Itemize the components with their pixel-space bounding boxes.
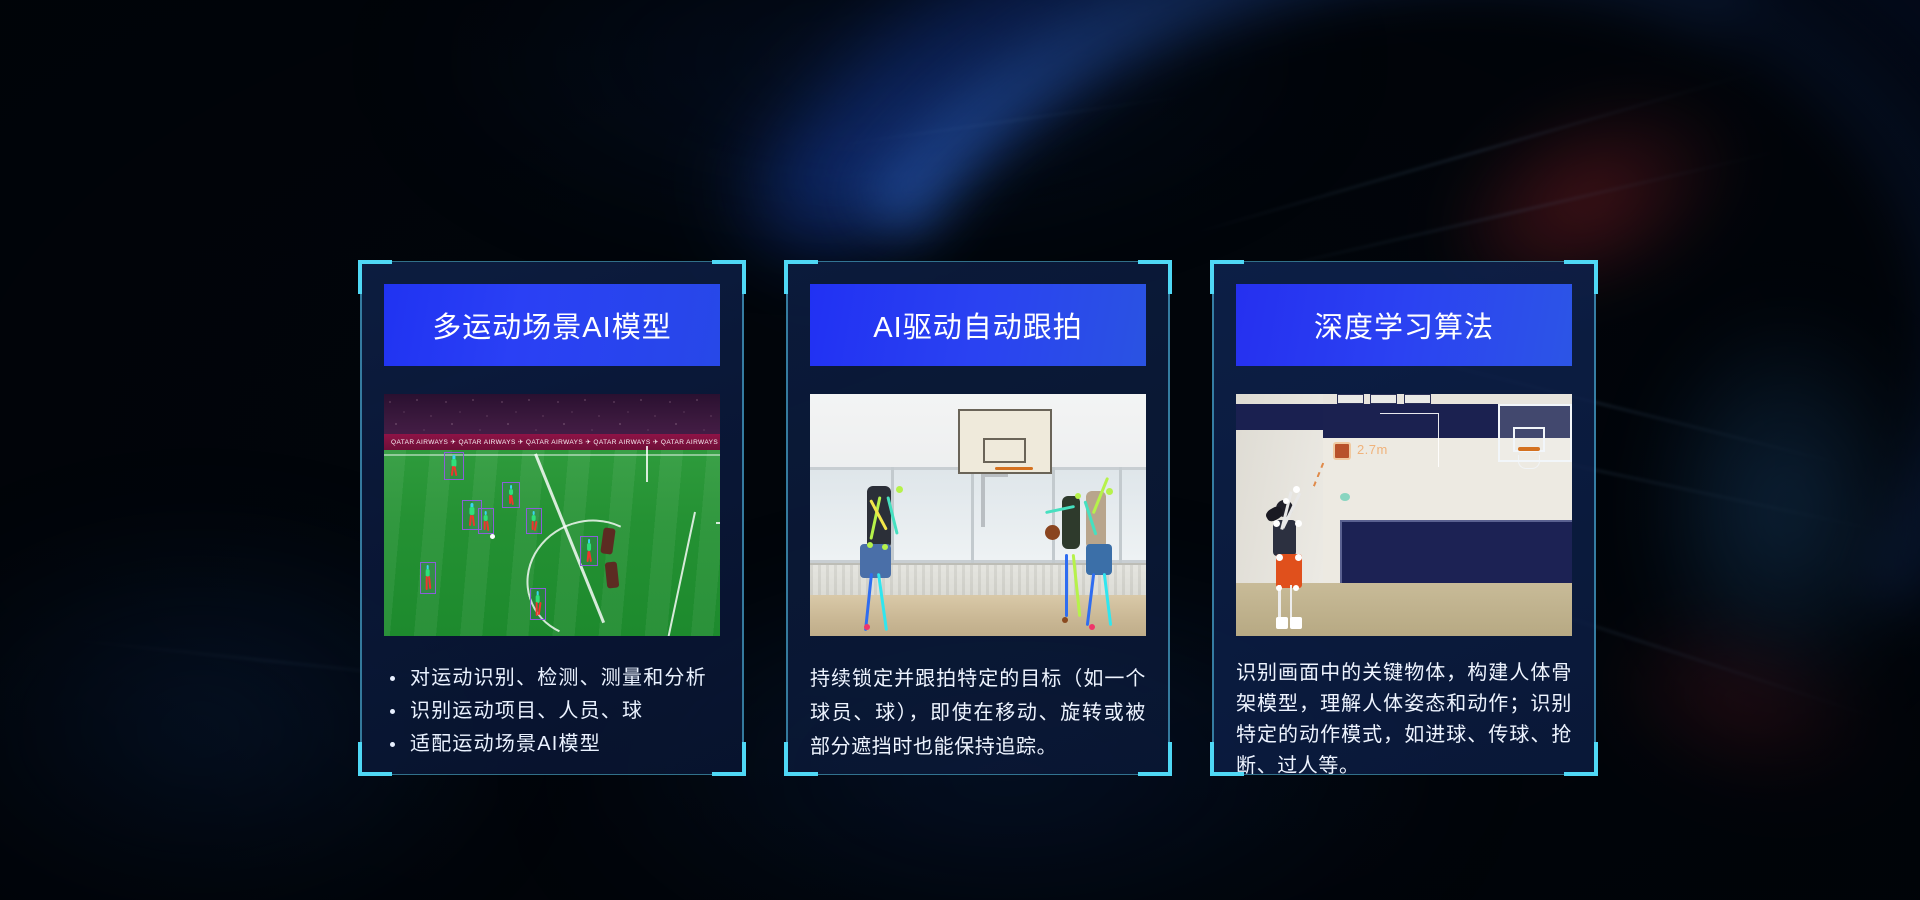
soccer-pitch-detection-image: QATAR AIRWAYS ✈ QATAR AIRWAYS ✈ QATAR AI… [384,394,720,636]
trajectory-guide [1380,413,1437,414]
basketball-backboard [958,409,1052,474]
pitch-line [646,446,648,482]
detection-box [444,452,464,480]
scoreboard-sign [1337,394,1364,404]
card-description: 识别画面中的关键物体，构建人体骨架模型，理解人体姿态和动作；识别特定的动作模式，… [1236,658,1572,782]
feature-card-row: 多运动场景AI模型 QATAR AIRWAYS ✈ QATAR AIRWAYS … [0,0,1920,900]
list-item: 适配运动场景AI模型 [384,728,720,761]
sponsor-banner: QATAR AIRWAYS ✈ QATAR AIRWAYS ✈ QATAR AI… [384,434,720,450]
feature-card-ai-auto-tracking[interactable]: AI驱动自动跟拍 [786,262,1170,774]
player-unboxed [605,561,620,588]
list-item: 对运动识别、检测、测量和分析 [384,662,720,695]
detection-box [478,508,494,534]
feature-card-deep-learning-algorithm[interactable]: 深度学习算法 [1212,262,1596,774]
basketball-rim [1518,447,1540,451]
card-title: AI驱动自动跟拍 [810,284,1146,366]
feature-bullet-list: 对运动识别、检测、测量和分析 识别运动项目、人员、球 适配运动场景AI模型 [384,662,720,761]
detection-box [580,536,598,566]
gym-floor [810,595,1146,636]
shot-trajectory-analysis-image: 2.7m [1236,394,1572,636]
scoreboard-sign [1370,394,1397,404]
detection-box [526,508,542,534]
detection-box [530,588,546,620]
sponsor-banner-text: QATAR AIRWAYS ✈ QATAR AIRWAYS ✈ QATAR AI… [384,438,720,446]
ball-marker [490,534,495,539]
gym-basketball-pose-image [810,394,1146,636]
card-body: 持续锁定并跟拍特定的目标（如一个球员、球），即使在移动、旋转或被部分遮挡时也能保… [810,662,1146,764]
detection-box [502,482,520,508]
height-annotation: 2.7m [1357,442,1388,457]
scoreboard-sign [1404,394,1431,404]
card-title: 多运动场景AI模型 [384,284,720,366]
card-body: 对运动识别、检测、测量和分析 识别运动项目、人员、球 适配运动场景AI模型 [384,662,720,761]
detection-box [420,562,436,594]
basketball-rim [995,467,1033,470]
pitch-line [384,454,720,456]
trajectory-guide [1438,413,1439,466]
card-edge-bottom [390,774,714,775]
card-title: 深度学习算法 [1236,284,1572,366]
card-body: 识别画面中的关键物体，构建人体骨架模型，理解人体姿态和动作；识别特定的动作模式，… [1236,658,1572,782]
basketball-backboard [1498,404,1572,462]
feature-card-multi-sport-ai-model[interactable]: 多运动场景AI模型 QATAR AIRWAYS ✈ QATAR AIRWAYS … [360,262,744,774]
list-item: 识别运动项目、人员、球 [384,695,720,728]
card-description: 持续锁定并跟拍特定的目标（如一个球员、球），即使在移动、旋转或被部分遮挡时也能保… [810,662,1146,764]
card-edge-bottom [816,774,1140,775]
pitch-line [716,522,720,524]
basketball [1045,525,1060,540]
basketball-net [1518,455,1540,469]
ball-detection-box [1333,442,1351,460]
